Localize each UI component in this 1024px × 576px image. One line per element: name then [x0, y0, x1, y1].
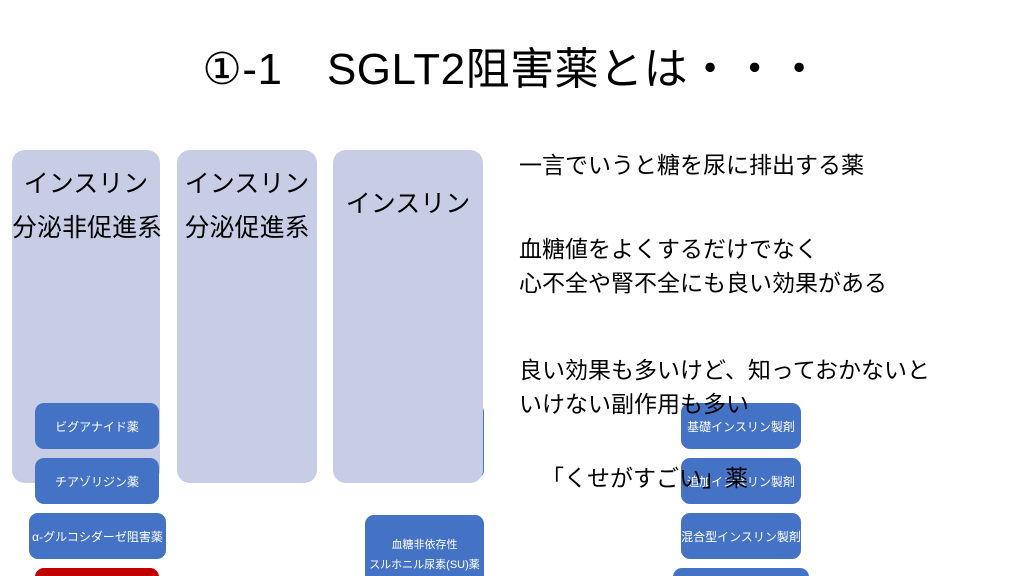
- category-panel-header: インスリン 分泌非促進系: [12, 162, 160, 250]
- category-panel-header-line1: インスリン: [177, 162, 317, 206]
- category-panel-header-line1: インスリン: [12, 162, 160, 206]
- note-catchphrase: 「くせがすごい」薬: [541, 461, 748, 495]
- page-title: ①-1 SGLT2阻害薬とは・・・: [0, 46, 1024, 94]
- drug-box-label: チアゾリジン薬: [55, 473, 139, 490]
- drug-box[interactable]: α-グルコシダーゼ阻害薬: [29, 513, 166, 559]
- drug-box[interactable]: ビグアナイド薬: [35, 403, 159, 449]
- category-panel-insulin: インスリン 基礎インスリン製剤 追加インスリン製剤 混合型インスリン製剤 配合溶…: [333, 150, 483, 483]
- drug-box[interactable]: 血糖非依存性 スルホニル尿素(SU)薬 グリニド薬: [365, 515, 484, 576]
- drug-box-label: 血糖非依存性: [369, 535, 480, 555]
- category-panel-header: インスリン 分泌促進系: [177, 162, 317, 250]
- note-benefits: 血糖値をよくするだけでなく 心不全や腎不全にも良い効果がある: [519, 232, 887, 300]
- category-panel-header-line2: 分泌非促進系: [12, 206, 160, 250]
- note-side-effects: 良い効果も多いけど、知っておかないと いけない副作用も多い: [519, 353, 930, 421]
- drug-box[interactable]: 配合溶解インスリン製剤: [673, 568, 809, 576]
- category-panel-header-line2: 分泌促進系: [177, 206, 317, 250]
- drug-box[interactable]: 混合型インスリン製剤: [681, 513, 801, 559]
- drug-box[interactable]: チアゾリジン薬: [35, 458, 159, 504]
- category-panel-header-line1: インスリン: [333, 182, 483, 226]
- category-panel-insulin-non-secretagogue: インスリン 分泌非促進系 ビグアナイド薬 チアゾリジン薬 α-グルコシダーゼ阻害…: [12, 150, 160, 483]
- category-panel-header: インスリン: [333, 182, 483, 226]
- slide-canvas: ①-1 SGLT2阻害薬とは・・・ インスリン 分泌非促進系 ビグアナイド薬 チ…: [0, 0, 1024, 576]
- drug-box-label: ビグアナイド薬: [55, 418, 139, 435]
- drug-box-label: α-グルコシダーゼ阻害薬: [32, 528, 163, 545]
- drug-box-highlighted-sglt2[interactable]: SGLT2阻害薬: [35, 568, 159, 576]
- drug-box-label: スルホニル尿素(SU)薬: [369, 555, 480, 575]
- category-panel-insulin-secretagogue: インスリン 分泌促進系 血糖依存性 DPP-4阻害薬 GLP-1受容体作動薬 血…: [177, 150, 317, 483]
- note-summary: 一言でいうと糖を尿に排出する薬: [519, 148, 864, 182]
- drug-box-label: 混合型インスリン製剤: [681, 528, 801, 545]
